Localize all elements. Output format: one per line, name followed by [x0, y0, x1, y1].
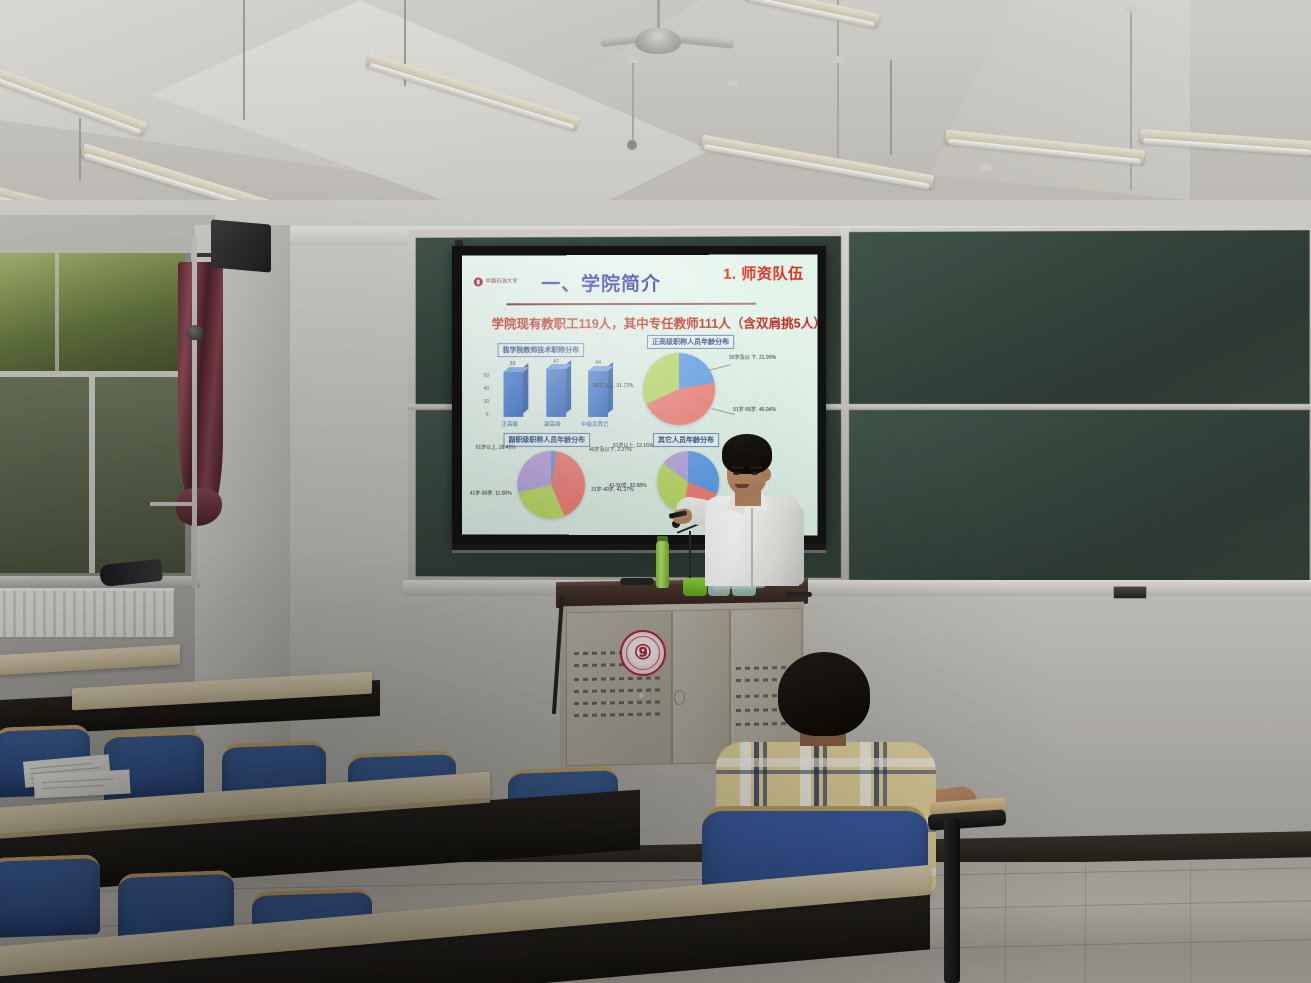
- emblem-ring: [626, 636, 660, 670]
- pie-associate-label-3: 51岁以上, 28.45%: [476, 445, 516, 451]
- classroom-photo: 中国石油大学 一、学院简介 1. 师资队伍 学院现有教职工119人，其中专任教师…: [0, 0, 1311, 983]
- window: [0, 250, 194, 580]
- green-tea-bottle: [656, 541, 669, 588]
- bar-category-label: 正高级: [502, 420, 518, 428]
- window-mullion: [55, 253, 59, 371]
- projected-slide: 中国石油大学 一、学院简介 1. 师资队伍 学院现有教职工119人，其中专任教师…: [462, 254, 818, 535]
- ceiling-fan-motor: [635, 28, 681, 54]
- pie-leader-line: [711, 408, 735, 415]
- bar-ytick: 40: [484, 386, 490, 392]
- window-pane: [95, 377, 185, 573]
- presenter-eyebrow: [750, 466, 762, 469]
- university-emblem: ⑨: [620, 630, 666, 676]
- chair-support-post: [944, 818, 960, 983]
- bar-category-label: 中级及其它: [581, 420, 608, 428]
- student-hair: [778, 652, 870, 736]
- ceiling-hook: [837, 0, 839, 160]
- ceiling-hook-ball: [627, 140, 637, 150]
- pie-associate: [517, 451, 585, 519]
- window-pane: [0, 253, 185, 371]
- pie-senior-label-1: 51岁-55岁, 46.04%: [733, 407, 776, 413]
- slide-section-label: 1. 师资队伍: [723, 262, 804, 283]
- wall-speaker: [211, 219, 271, 272]
- chair[interactable]: [0, 854, 100, 938]
- bar-chart-title: 我学院教师技术职称分布: [498, 343, 585, 357]
- pie-senior: [643, 353, 715, 425]
- paper-text-line: [42, 785, 104, 789]
- floor-tile-line: [1190, 862, 1191, 983]
- presenter-hair: [722, 434, 772, 474]
- presenter-eye: [751, 472, 758, 475]
- pie-associate-label-2: 41岁-50岁, 11.00%: [470, 491, 512, 497]
- lamp-suspension-rod: [243, 0, 245, 120]
- paper-text-line: [42, 778, 114, 783]
- chalkboard-rail: [841, 228, 849, 586]
- chalkboard-eraser: [1113, 586, 1147, 599]
- ceiling-fan-rod: [657, 0, 660, 30]
- chalkboard-panel: [849, 410, 1310, 582]
- ceiling-hook: [632, 62, 634, 144]
- podium-door-handle[interactable]: [674, 690, 685, 705]
- university-logo-mark: [474, 277, 483, 286]
- floor-tile-line: [1005, 862, 1006, 983]
- security-camera-icon: [186, 325, 204, 340]
- bar: [588, 370, 608, 417]
- bar: [546, 368, 566, 417]
- floor-tile-line: [1085, 862, 1086, 983]
- bar-ytick: 50: [484, 373, 490, 379]
- plaid-stripe: [716, 758, 936, 767]
- desk-cable: [786, 592, 812, 597]
- window-mullion: [89, 377, 95, 573]
- slide-bullet-text: 学院现有教职工119人，其中专任教师111人（含双肩挑5人）: [492, 313, 818, 333]
- bar: [504, 371, 524, 417]
- pie-associate-title: 副职级职称人员年龄分布: [504, 433, 591, 447]
- pie-leader-line: [709, 364, 731, 370]
- bar-category-label: 副高级: [544, 420, 560, 428]
- university-logo-wordmark: 中国石油大学: [486, 279, 518, 285]
- presenter-right-arm: [782, 505, 804, 585]
- university-logo: 中国石油大学: [474, 277, 518, 286]
- window-curtain: [178, 262, 223, 512]
- slide-title-rule: [506, 303, 756, 306]
- ceiling-hook-cap: [628, 56, 639, 63]
- pie-senior-label-2: 56岁以上, 31.72%: [593, 383, 633, 389]
- presenter-mouth: [735, 484, 749, 488]
- pie-other-label-3: 51岁以上, 12.16%: [613, 443, 653, 449]
- podium-door-center[interactable]: [672, 609, 730, 764]
- bar-chart: 50 40 30 0 39 47 44 正高级 副高级 中级及其它: [484, 359, 623, 429]
- slide-title: 一、学院简介: [541, 269, 661, 296]
- ceiling-hook-cap: [1125, 6, 1136, 13]
- presenter-shirt-placket: [751, 508, 753, 586]
- ceiling-hook-cap: [727, 80, 738, 87]
- wall-pipe: [150, 502, 196, 506]
- lamp-suspension-rod: [79, 118, 81, 180]
- bar-ytick: 30: [484, 399, 490, 405]
- desk-cable: [620, 578, 654, 585]
- green-tray: [683, 578, 707, 596]
- presenter-eyebrow: [731, 466, 744, 469]
- pie-other-label-2: 41-50岁, 32.58%: [609, 483, 646, 489]
- chalk-tray: [403, 580, 1311, 596]
- window-pane: [0, 377, 89, 573]
- radiator: [0, 588, 174, 639]
- presenter-eye: [733, 472, 740, 475]
- chalkboard-panel: [849, 230, 1310, 404]
- wall-pipe: [192, 238, 197, 588]
- pie-senior-title: 正高级职称人员年龄分布: [647, 335, 734, 349]
- pie-other-title: 其它人员年龄分布: [653, 433, 719, 447]
- plaid-stripe: [716, 770, 936, 774]
- ceiling-hook-cap: [833, 56, 844, 63]
- ceiling-hook-cap: [980, 163, 991, 170]
- bar-ytick: 0: [486, 412, 489, 418]
- pie-senior-label-0: 50岁及以 下, 21.99%: [729, 355, 776, 361]
- podium-lock-knob[interactable]: [639, 693, 646, 700]
- papers-on-desk[interactable]: [33, 770, 130, 799]
- lamp-suspension-rod: [890, 60, 892, 155]
